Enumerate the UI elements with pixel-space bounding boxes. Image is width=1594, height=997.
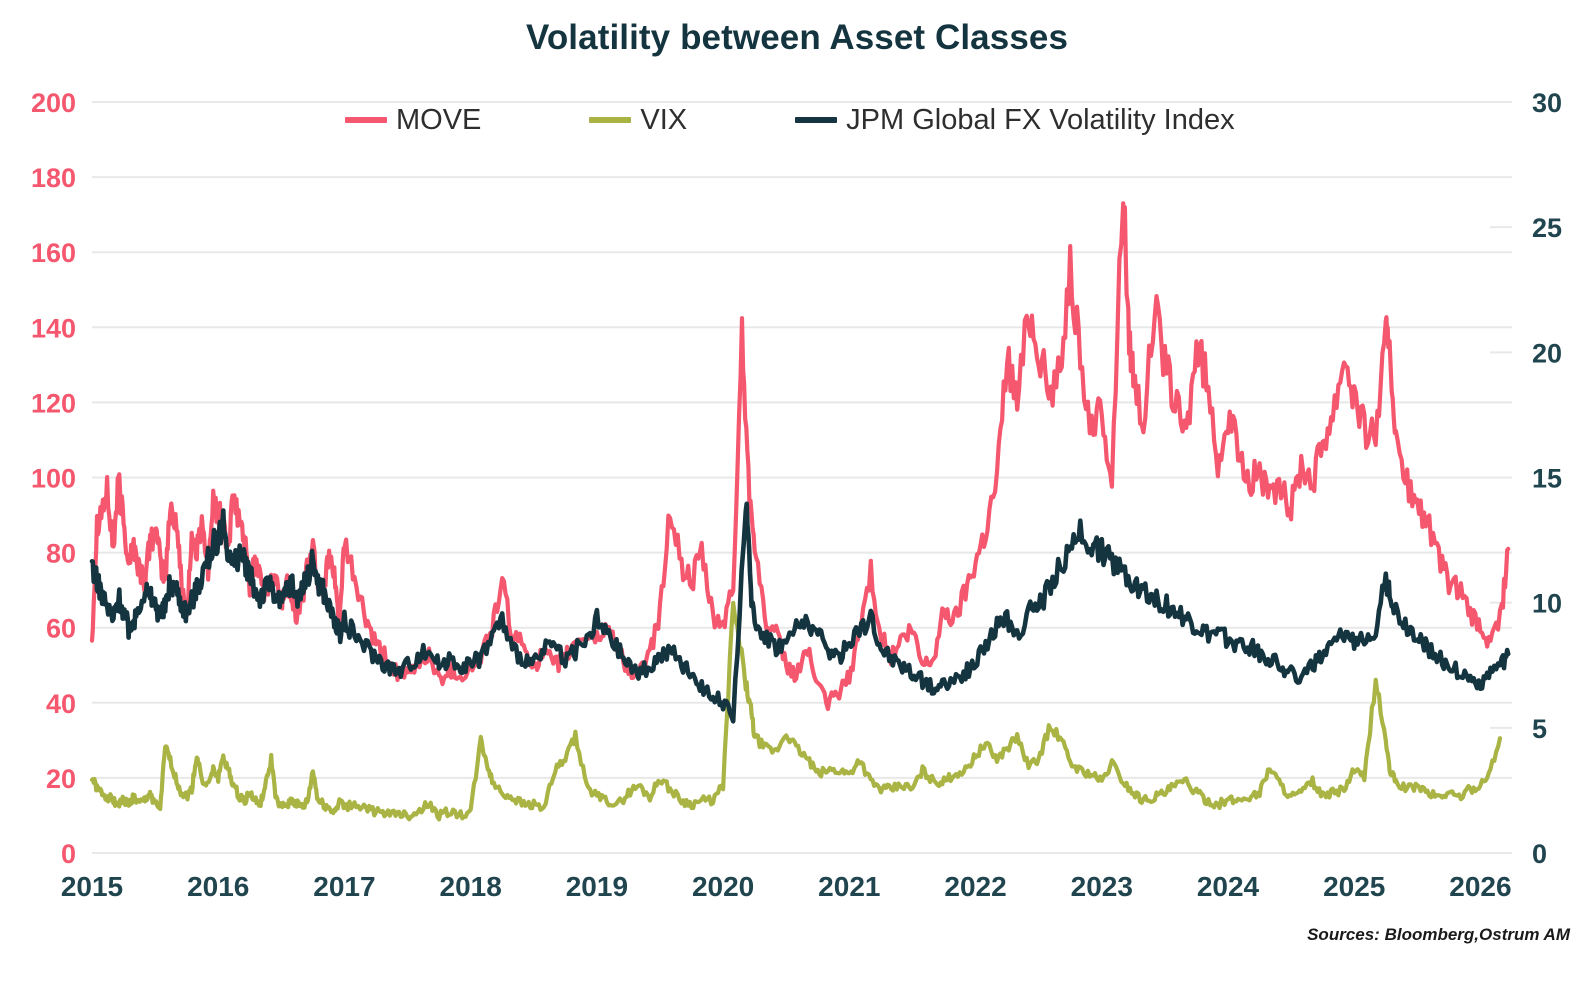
y-axis-left-tick: 80: [46, 539, 76, 569]
y-axis-right-tick: 10: [1532, 589, 1562, 619]
y-axis-right-tick: 30: [1532, 88, 1562, 118]
x-axis-tick: 2022: [944, 871, 1006, 902]
chart-svg: 020406080100120140160180200 051015202530…: [0, 0, 1594, 997]
x-axis-tick: 2025: [1323, 871, 1385, 902]
y-axis-right-tick: 0: [1532, 839, 1547, 869]
y-axis-left-tick: 60: [46, 614, 76, 644]
y-axis-left-tick: 100: [31, 464, 76, 494]
x-axis-tick: 2020: [692, 871, 754, 902]
x-axis-tick: 2016: [187, 871, 249, 902]
y-axis-left-tick: 200: [31, 88, 76, 118]
x-axis-tick: 2018: [440, 871, 502, 902]
y-axis-right-labels: 051015202530: [1532, 88, 1562, 869]
x-axis-tick: 2024: [1197, 871, 1260, 902]
y-axis-right-tick: 20: [1532, 338, 1562, 368]
y-axis-left-tick: 40: [46, 689, 76, 719]
series-line-move: [92, 203, 1508, 709]
y-axis-left-tick: 0: [61, 839, 76, 869]
series-line-jpm-global-fx-volatility-index: [92, 504, 1508, 722]
plot-area: 020406080100120140160180200 051015202530…: [0, 0, 1594, 997]
y-axis-right-tick: 5: [1532, 714, 1547, 744]
y-axis-left-tick: 20: [46, 764, 76, 794]
x-axis-tick: 2026: [1449, 871, 1511, 902]
x-axis-tick: 2023: [1071, 871, 1133, 902]
x-axis-tick: 2021: [818, 871, 880, 902]
series-line-vix: [92, 603, 1500, 819]
series-lines: [92, 203, 1508, 819]
y-axis-left-tick: 120: [31, 388, 76, 418]
x-axis-tick: 2017: [313, 871, 375, 902]
y-axis-left-tick: 180: [31, 163, 76, 193]
x-axis-tick: 2015: [61, 871, 123, 902]
x-axis-labels: 2015201620172018201920202021202220232024…: [61, 871, 1512, 902]
y-axis-right-tick: 25: [1532, 213, 1562, 243]
x-axis-tick: 2019: [566, 871, 628, 902]
chart-container: Volatility between Asset Classes MOVE VI…: [0, 0, 1594, 997]
source-note: Sources: Bloomberg,Ostrum AM: [1307, 925, 1570, 945]
y-axis-left-tick: 160: [31, 238, 76, 268]
y-axis-right-tick: 15: [1532, 464, 1562, 494]
y-axis-left-labels: 020406080100120140160180200: [31, 88, 76, 869]
y-axis-left-tick: 140: [31, 313, 76, 343]
